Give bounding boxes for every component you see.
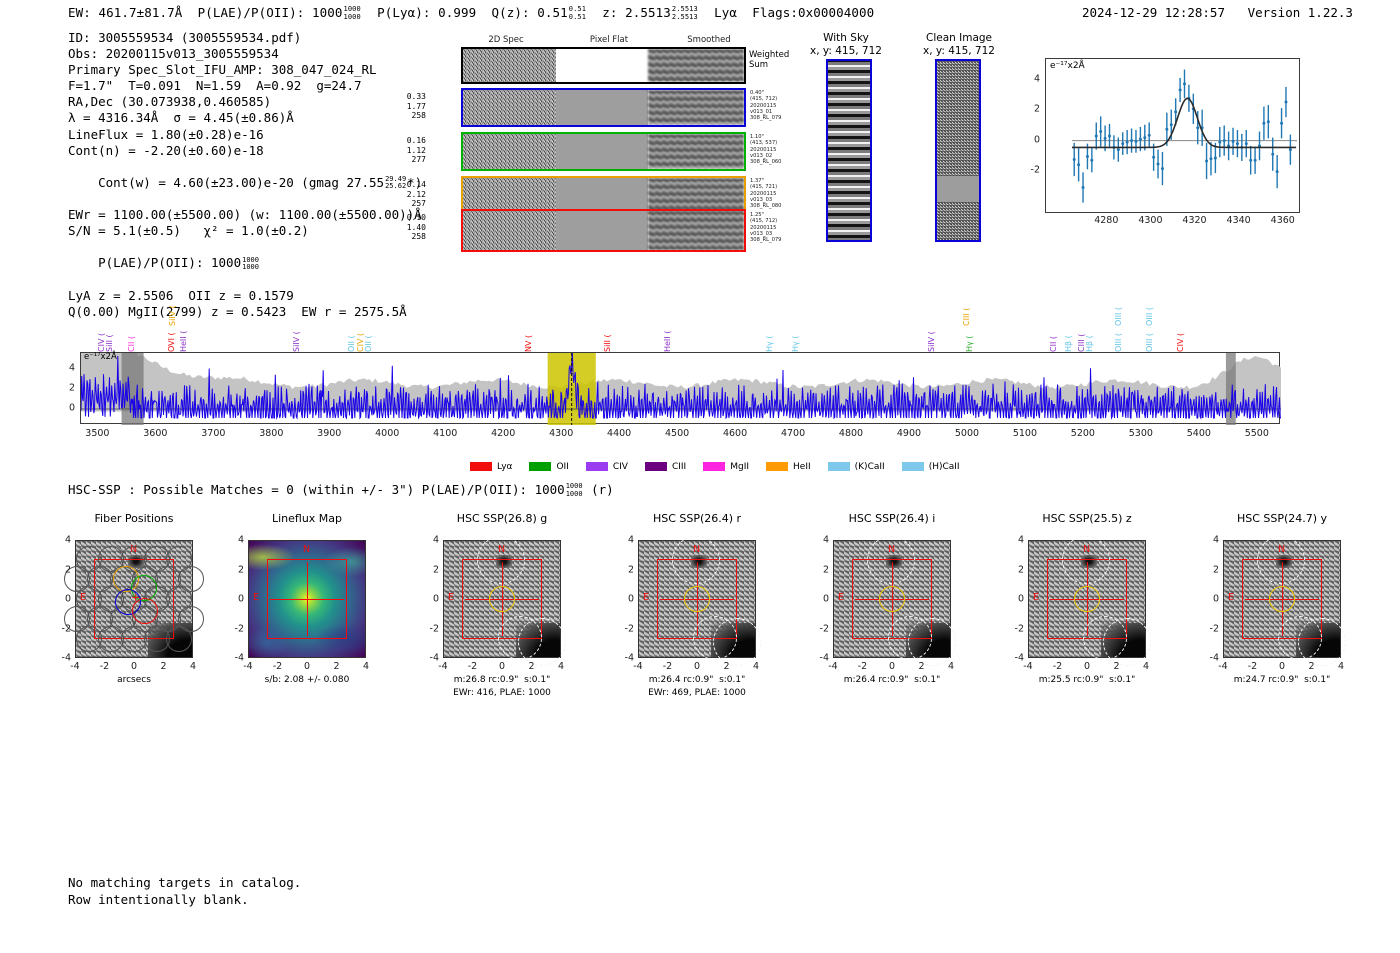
with-sky-image — [826, 59, 872, 242]
panel-ytick: 0 — [809, 594, 829, 605]
fiber-row — [461, 132, 746, 171]
panel-xtick: -2 — [273, 661, 282, 672]
panel-title: HSC SSP(24.7) y — [1203, 512, 1361, 525]
header-z-fraction: 2.55132.5513 — [672, 6, 698, 20]
info-plae-fraction: 10001000 — [242, 257, 259, 271]
fiber-2dspec — [463, 178, 556, 213]
panel-xtick: -4 — [1023, 661, 1032, 672]
spectrum-xtick: 5100 — [1013, 428, 1037, 439]
panel-ytick: 2 — [614, 564, 634, 575]
panel-ytick: -4 — [614, 653, 634, 664]
emission-line-label: HeII ( — [664, 308, 672, 352]
info-plae: P(LAE)/P(OII): 100010001000 — [68, 239, 422, 287]
legend-item: (K)CaII — [828, 462, 885, 472]
emission-line-label: SiII ( — [604, 308, 612, 352]
fiber-row-values: 0.16 1.12 277 — [398, 136, 426, 165]
fiber-smoothed — [648, 178, 744, 213]
panel-ytick: 0 — [1004, 594, 1024, 605]
panel-xtick: 4 — [558, 661, 564, 672]
panel-ytick: 0 — [1199, 594, 1219, 605]
header-plae-fraction: 10001000 — [344, 6, 361, 20]
header-qz-fraction: 0.510.51 — [569, 6, 586, 20]
info-line: RA,Dec (30.073938,0.460585) — [68, 94, 422, 110]
fiber-flat — [556, 134, 649, 169]
masked-source-circle — [1103, 618, 1151, 666]
masked-source-circle — [477, 536, 525, 584]
panel-caption: m:26.8 rc:0.9" s:0.1" — [417, 674, 587, 686]
panel-xtick: 4 — [363, 661, 369, 672]
panel-title: Lineflux Map — [228, 512, 386, 525]
clean-image-title: Clean Image x, y: 415, 712 — [913, 32, 1005, 58]
spectrum-xtick: 4800 — [839, 428, 863, 439]
panel-xtick: 0 — [304, 661, 310, 672]
panel-ytick: 4 — [809, 535, 829, 546]
emission-line-label: OIII ( — [1146, 282, 1154, 326]
spectrum-legend: LyαOIICIVCIIIMgIIHeII(K)CaII(H)CaII — [470, 456, 977, 475]
legend-item: HeII — [766, 462, 811, 472]
spectrum-xtick: 3800 — [259, 428, 283, 439]
emission-line-label: Hγ ( — [792, 308, 800, 352]
panel-ytick: -4 — [224, 653, 244, 664]
spectrum-flux-annotation: e⁻¹⁷x2Å — [84, 352, 117, 362]
line-fit-xtick: 4360 — [1271, 215, 1295, 226]
panel-xtick: 0 — [499, 661, 505, 672]
header-timestamp: 2024-12-29 12:28:57 — [1082, 5, 1225, 20]
panel-ytick: 4 — [614, 535, 634, 546]
spectrum-xtick: 5000 — [955, 428, 979, 439]
panel-xtick: 0 — [1084, 661, 1090, 672]
spectrum-xtick: 4600 — [723, 428, 747, 439]
masked-source-circle — [908, 618, 956, 666]
emission-line-label: Hγ ( — [966, 308, 974, 352]
spectrum-xtick: 5400 — [1187, 428, 1211, 439]
panel-xtick: 2 — [1308, 661, 1314, 672]
compass-east: E — [448, 592, 454, 603]
spectrum-xtick: 4200 — [491, 428, 515, 439]
panel-ytick: -2 — [614, 623, 634, 634]
panel-title: HSC SSP(25.5) z — [1008, 512, 1166, 525]
panel-xtick: 2 — [918, 661, 924, 672]
fiber-metadata: 0.40" (415, 712) 20200115 v013_01 308_RL… — [750, 90, 782, 121]
spectrum-xtick: 4100 — [433, 428, 457, 439]
spectrum-xtick: 4400 — [607, 428, 631, 439]
masked-source-circle — [1257, 536, 1305, 584]
fiber-smoothed — [648, 134, 744, 169]
legend-swatch — [529, 462, 551, 471]
emission-line-label: SiII ( — [106, 308, 114, 352]
fiber-circle — [166, 626, 192, 652]
fiber-flat — [556, 211, 649, 250]
panel-xtick: 4 — [1143, 661, 1149, 672]
fiber-row — [461, 209, 746, 252]
panel-xtick: 0 — [131, 661, 137, 672]
panel-xtick: 2 — [333, 661, 339, 672]
legend-item: (H)CaII — [902, 462, 960, 472]
emission-line-label: Hγ ( — [766, 308, 774, 352]
panel-xtick: -2 — [1248, 661, 1257, 672]
panel-xtick: -2 — [858, 661, 867, 672]
fiber-row — [461, 88, 746, 127]
weighted-sum-label: Weighted Sum — [749, 50, 789, 70]
panel-xtick: -4 — [70, 661, 79, 672]
panel-ytick: 4 — [1199, 535, 1219, 546]
spectrum-xtick: 3900 — [317, 428, 341, 439]
spectrum-xtick: 4000 — [375, 428, 399, 439]
header-z-label: z: 2.5513 — [602, 5, 671, 20]
panel-ytick: -2 — [1004, 623, 1024, 634]
compass-east: E — [643, 592, 649, 603]
emission-line-label: NV ( — [525, 308, 533, 352]
header-line-name: Lyα — [714, 5, 737, 20]
fiber-metadata: 1.37" (415, 721) 20200115 v013_03 308_RL… — [750, 178, 782, 209]
legend-swatch — [586, 462, 608, 471]
panel-caption: s/b: 2.08 +/- 0.080 — [222, 674, 392, 686]
panel-xtick: 2 — [723, 661, 729, 672]
panel-ytick: 2 — [224, 564, 244, 575]
line-fit-ytick: 2 — [1020, 104, 1040, 115]
col-title-smoothed: Smoothed — [665, 35, 753, 45]
info-cont-w: Cont(w) = 4.60(±23.00)e-20 (gmag 27.5529… — [68, 159, 422, 207]
emission-line-label: SiIV ( — [293, 308, 301, 352]
panel-ytick: 0 — [614, 594, 634, 605]
panel-xtick: 4 — [753, 661, 759, 672]
footer-note: No matching targets in catalog. Row inte… — [68, 874, 301, 908]
header-ew: EW: 461.7±81.7Å — [68, 5, 182, 20]
panel-xtick: -2 — [663, 661, 672, 672]
line-fit-ytick: 0 — [1020, 134, 1040, 145]
fiber-smoothed — [648, 211, 744, 250]
line-fit-plot: e⁻¹⁷x2Å — [1045, 58, 1300, 213]
compass-east: E — [253, 592, 259, 603]
emission-line-label: HeII ( — [180, 308, 188, 352]
emission-line-label: CII ( — [128, 308, 136, 352]
full-spectrum-plot: e⁻¹⁷x2Å — [80, 352, 1280, 424]
emission-line-label: OII ( — [365, 308, 373, 352]
spectrum-xtick: 5300 — [1129, 428, 1153, 439]
weighted-sum-2dspec — [463, 49, 556, 82]
panel-ytick: -4 — [1199, 653, 1219, 664]
fiber-flat — [556, 90, 649, 125]
panel-xtick: -2 — [100, 661, 109, 672]
fiber-flat — [556, 178, 649, 213]
header-flags: Flags:0x00004000 — [752, 5, 874, 20]
panel-xtick: 2 — [528, 661, 534, 672]
spectrum-xtick: 4900 — [897, 428, 921, 439]
panel-xtick: 2 — [160, 661, 166, 672]
spectrum-xtick: 3500 — [85, 428, 109, 439]
panel-xtick: -4 — [243, 661, 252, 672]
panel-xtick: -4 — [633, 661, 642, 672]
header-plya: P(Lyα): 0.999 — [377, 5, 476, 20]
fiber-row-values: 0.10 1.40 258 — [398, 213, 426, 242]
info-line: Obs: 20200115v013_3005559534 — [68, 46, 422, 62]
hsc-plae-fraction: 10001000 — [566, 483, 583, 497]
spectrum-xtick: 3700 — [201, 428, 225, 439]
emission-line-label: SiIV ( — [928, 308, 936, 352]
panel-ytick: 0 — [419, 594, 439, 605]
masked-source-circle — [867, 536, 915, 584]
compass-north: N — [303, 544, 310, 555]
panel-xtick: 4 — [1338, 661, 1344, 672]
panel-ytick: -4 — [1004, 653, 1024, 664]
panel-ytick: 4 — [51, 535, 71, 546]
emission-line-label: OVI ( — [168, 308, 176, 352]
panel-ytick: -4 — [809, 653, 829, 664]
with-sky-title: With Sky x, y: 415, 712 — [803, 32, 889, 58]
panel-xtick: 2 — [1113, 661, 1119, 672]
weighted-sum-row — [461, 47, 746, 84]
header-version: Version 1.22.3 — [1248, 5, 1353, 20]
emission-line-label: Hβ ( — [1086, 308, 1094, 352]
legend-swatch — [828, 462, 850, 471]
emission-line-label: OIII ( — [1115, 282, 1123, 326]
panel-ytick: 0 — [51, 594, 71, 605]
panel-ytick: -2 — [1199, 623, 1219, 634]
panel-ytick: -2 — [809, 623, 829, 634]
panel-caption: m:26.4 rc:0.9" s:0.1" — [807, 674, 977, 686]
emission-line-label: CII ( — [1050, 308, 1058, 352]
info-line: Primary Spec_Slot_IFU_AMP: 308_047_024_R… — [68, 62, 422, 78]
panel-ytick: 4 — [419, 535, 439, 546]
legend-item: CIV — [586, 462, 628, 472]
aperture-circle — [489, 586, 515, 612]
info-line: F=1.7" T=0.091 N=1.59 A=0.92 g=24.7 — [68, 78, 422, 94]
panel-title: Fiber Positions — [55, 512, 213, 525]
crosshair-vertical — [307, 562, 308, 636]
full-spectrum-svg — [81, 353, 1281, 425]
info-line: ID: 3005559534 (3005559534.pdf) — [68, 30, 422, 46]
panel-title: HSC SSP(26.4) r — [618, 512, 776, 525]
fiber-2dspec — [463, 90, 556, 125]
legend-swatch — [703, 462, 725, 471]
hsc-ssp-summary: HSC-SSP : Possible Matches = 0 (within +… — [68, 482, 614, 498]
spectrum-xtick: 4300 — [549, 428, 573, 439]
panel-xtick: -2 — [1053, 661, 1062, 672]
weighted-sum-smoothed — [648, 49, 744, 82]
info-sn: S/N = 5.1(±0.5) χ² = 1.0(±0.2) — [68, 223, 422, 239]
header-meta: 2024-12-29 12:28:57 Version 1.22.3 — [1082, 5, 1353, 20]
panel-ytick: 0 — [224, 594, 244, 605]
panel-ytick: 2 — [1199, 564, 1219, 575]
aperture-circle — [684, 586, 710, 612]
panel-xtick: 0 — [1279, 661, 1285, 672]
panel-xtick: -4 — [1218, 661, 1227, 672]
line-fit-xtick: 4340 — [1227, 215, 1251, 226]
panel-xtick: 4 — [948, 661, 954, 672]
panel-ytick: -4 — [51, 653, 71, 664]
panel-caption-secondary: EWr: 469, PLAE: 1000 — [612, 687, 782, 699]
panel-ytick: 4 — [1004, 535, 1024, 546]
panel-xtick: -4 — [828, 661, 837, 672]
fiber-row-values: 0.33 1.77 258 — [398, 92, 426, 121]
header-summary: EW: 461.7±81.7Å P(LAE)/P(OII): 100010001… — [68, 5, 874, 21]
panel-ytick: -2 — [224, 623, 244, 634]
panel-ytick: 2 — [51, 564, 71, 575]
info-line: λ = 4316.34Å σ = 4.45(±0.86)Å — [68, 110, 422, 126]
spectrum-xtick: 5500 — [1245, 428, 1269, 439]
spectrum-ytick: 0 — [55, 403, 75, 414]
info-line: LineFlux = 1.80(±0.28)e-16 — [68, 127, 422, 143]
spectrum-xtick: 4700 — [781, 428, 805, 439]
legend-item: MgII — [703, 462, 749, 472]
panel-ytick: 2 — [809, 564, 829, 575]
panel-ytick: 2 — [1004, 564, 1024, 575]
fiber-row-values: 0.14 2.12 257 — [398, 180, 426, 209]
panel-title: HSC SSP(26.8) g — [423, 512, 581, 525]
aperture-circle — [1074, 586, 1100, 612]
panel-xtick: -4 — [438, 661, 447, 672]
line-fit-svg — [1046, 59, 1301, 214]
panel-xtick: -2 — [468, 661, 477, 672]
panel-ytick: -2 — [419, 623, 439, 634]
clean-image — [935, 59, 981, 242]
masked-source-circle — [713, 618, 761, 666]
compass-east: E — [838, 592, 844, 603]
spectrum-ytick: 4 — [55, 363, 75, 374]
line-fit-xtick: 4320 — [1182, 215, 1206, 226]
masked-source-circle — [518, 618, 566, 666]
panel-xtick: 0 — [889, 661, 895, 672]
masked-source-circle — [1298, 618, 1346, 666]
panel-ytick: -2 — [51, 623, 71, 634]
emission-line-label: Hβ ( — [1065, 308, 1073, 352]
spectrum-ytick: 2 — [55, 383, 75, 394]
spectrum-xtick: 4500 — [665, 428, 689, 439]
legend-item: OII — [529, 462, 568, 472]
line-fit-xtick: 4300 — [1138, 215, 1162, 226]
line-fit-ytick: 4 — [1020, 74, 1040, 85]
col-title-2d-spec: 2D Spec — [462, 35, 550, 45]
header-plae-label: P(LAE)/P(OII): 1000 — [198, 5, 343, 20]
legend-swatch — [902, 462, 924, 471]
panel-caption: arcsecs — [49, 674, 219, 686]
spectrum-xtick: 3600 — [143, 428, 167, 439]
legend-item: Lyα — [470, 462, 512, 472]
clean-image-dead-region — [937, 176, 979, 202]
info-ewr: EWr = 1100.00(±5500.00) (w: 1100.00(±550… — [68, 207, 422, 223]
fiber-2dspec — [463, 211, 556, 250]
panel-xtick: 4 — [190, 661, 196, 672]
info-redshifts: LyA z = 2.5506 OII z = 0.1579 — [68, 288, 422, 304]
panel-ytick: 4 — [224, 535, 244, 546]
line-fit-ytick: -2 — [1020, 164, 1040, 175]
legend-swatch — [645, 462, 667, 471]
col-title-pixel-flat: Pixel Flat — [565, 35, 653, 45]
fiber-metadata: 1.25" (415, 712) 20200115 v013_03 308_RL… — [750, 212, 782, 243]
fiber-smoothed — [648, 90, 744, 125]
panel-caption-secondary: EWr: 416, PLAE: 1000 — [417, 687, 587, 699]
aperture-circle — [879, 586, 905, 612]
emission-line-label: CIV ( — [1177, 308, 1185, 352]
weighted-sum-flat — [556, 49, 649, 82]
legend-item: CIII — [645, 462, 686, 472]
fiber-2dspec — [463, 134, 556, 169]
compass-east: E — [1228, 592, 1234, 603]
panel-title: HSC SSP(26.4) i — [813, 512, 971, 525]
aperture-circle — [1269, 586, 1295, 612]
legend-swatch — [766, 462, 788, 471]
panel-caption: m:24.7 rc:0.9" s:0.1" — [1197, 674, 1367, 686]
compass-east: E — [1033, 592, 1039, 603]
target-marker: + — [131, 591, 140, 604]
panel-ytick: -4 — [419, 653, 439, 664]
header-qz-label: Q(z): 0.51 — [491, 5, 567, 20]
panel-xtick: 0 — [694, 661, 700, 672]
masked-source-circle — [672, 536, 720, 584]
spectrum-xtick: 5200 — [1071, 428, 1095, 439]
panel-caption: m:26.4 rc:0.9" s:0.1" — [612, 674, 782, 686]
line-fit-xtick: 4280 — [1094, 215, 1118, 226]
panel-caption: m:25.5 rc:0.9" s:0.1" — [1002, 674, 1172, 686]
masked-source-circle — [1062, 536, 1110, 584]
fiber-metadata: 1.10" (413, 537) 20200115 v013_02 308_RL… — [750, 134, 782, 165]
info-line: Cont(n) = -2.20(±0.60)e-18 — [68, 143, 422, 159]
legend-swatch — [470, 462, 492, 471]
detection-info-block: ID: 3005559534 (3005559534.pdf) Obs: 202… — [68, 30, 422, 320]
panel-ytick: 2 — [419, 564, 439, 575]
